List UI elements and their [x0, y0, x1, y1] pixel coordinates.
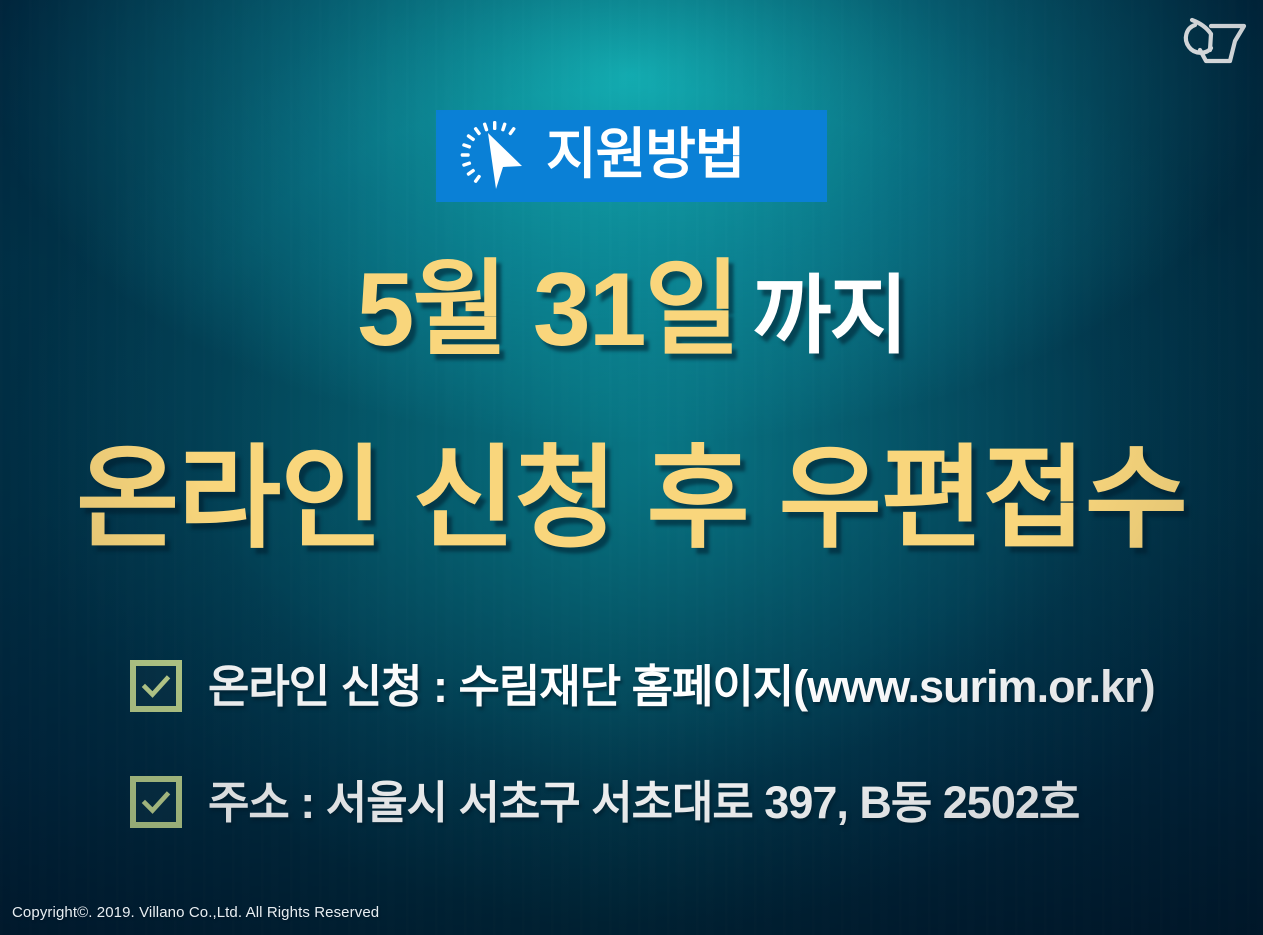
copyright-text: Copyright©. 2019. Villano Co.,Ltd. All R… — [12, 904, 379, 921]
villano-bird-logo-icon — [1180, 12, 1250, 74]
section-badge-label: 지원방법 — [546, 127, 744, 186]
headline-method: 온라인 신청 후 우편접수 — [0, 443, 1263, 555]
list-item-label: 온라인 신청 : 수림재단 홈페이지(www.surim.or.kr) — [208, 664, 1155, 709]
checkbox-checked-icon — [130, 660, 182, 712]
list-item: 주소 : 서울시 서초구 서초대로 397, B동 2502호 — [130, 776, 1079, 828]
headline-method-text: 온라인 신청 후 우편접수 — [76, 436, 1187, 561]
cursor-pointer-click-icon — [458, 119, 532, 193]
section-badge: 지원방법 — [436, 110, 827, 202]
checkbox-checked-icon — [130, 776, 182, 828]
headline-deadline: 5월 31일까지 — [0, 258, 1263, 362]
list-item-label: 주소 : 서울시 서초구 서초대로 397, B동 2502호 — [208, 780, 1079, 825]
headline-deadline-date: 5월 31일 — [356, 252, 738, 368]
headline-deadline-suffix: 까지 — [752, 268, 906, 364]
list-item: 온라인 신청 : 수림재단 홈페이지(www.surim.or.kr) — [130, 660, 1155, 712]
presentation-slide: 지원방법 5월 31일까지 온라인 신청 후 우편접수 온라인 신청 : 수림재… — [0, 0, 1263, 935]
